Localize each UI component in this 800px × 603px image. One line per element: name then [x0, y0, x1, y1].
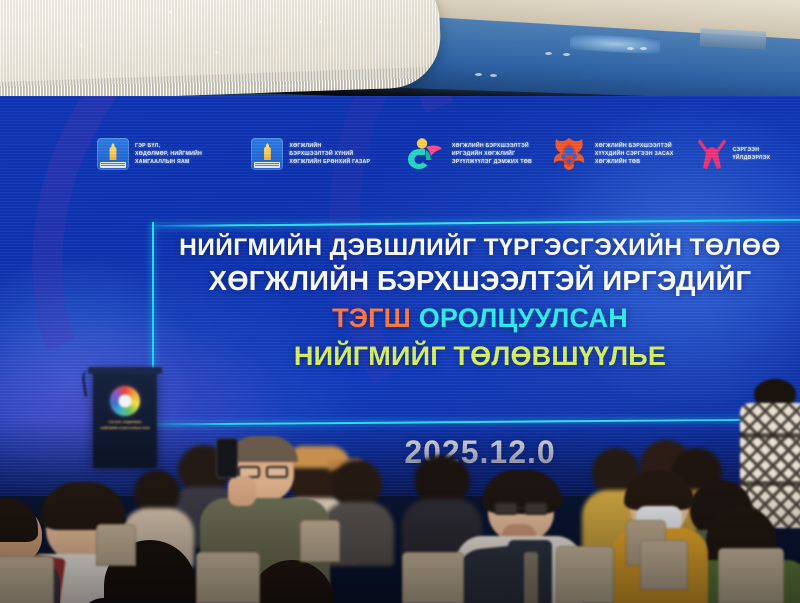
chair-back: [300, 520, 340, 562]
mobile-phone-icon: [216, 438, 238, 478]
chair-back: [556, 546, 614, 603]
chair-back: [640, 540, 688, 590]
chair-back: [196, 552, 260, 603]
audience-area: [0, 0, 800, 603]
chair-back: [402, 552, 464, 603]
chair-back: [96, 524, 136, 566]
chair-back: [0, 556, 54, 603]
chair-back: [718, 548, 784, 603]
conference-hall-photo: ГЭР БҮЛ, ХӨДӨЛМӨР, НИЙГМИЙН ХАМГААЛЛЫН Я…: [0, 0, 800, 603]
